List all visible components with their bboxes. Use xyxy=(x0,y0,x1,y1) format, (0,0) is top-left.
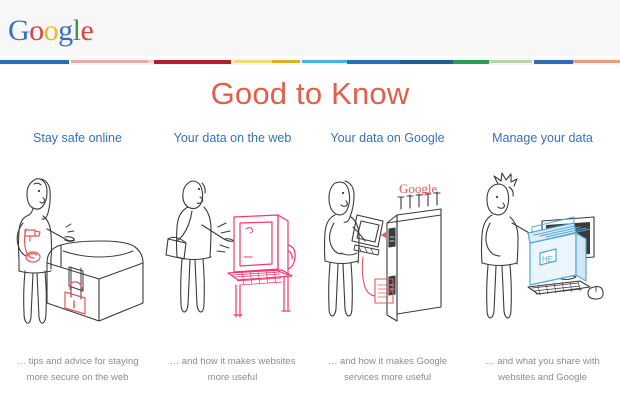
logo-letter-e: e xyxy=(81,16,94,46)
page-title: Good to Know xyxy=(0,76,620,112)
rainbow-segment-0 xyxy=(0,60,69,64)
illustration-person-with-file-drawer-and-monitor: HE xyxy=(468,167,618,332)
rainbow-divider xyxy=(0,58,620,65)
logo-letter-l: l xyxy=(73,16,81,46)
caption-line-2: more useful xyxy=(159,370,306,386)
column-your-data-on-google[interactable]: Your data on Google xyxy=(310,126,465,413)
column-heading[interactable]: Your data on the web xyxy=(174,131,292,145)
rainbow-segment-10 xyxy=(347,60,400,64)
google-logo[interactable]: Google xyxy=(8,16,93,46)
logo-letter-o2: o xyxy=(44,16,59,46)
illustration-person-pointing-at-computer xyxy=(158,167,308,332)
server-google-label: Google xyxy=(399,181,438,196)
illustration-person-with-tablet-and-google-server: Google xyxy=(313,167,463,332)
caption-line-2: more secure on the web xyxy=(4,370,151,386)
caption-line-1: … and how it makes websites xyxy=(159,354,306,370)
good-to-know-page: Google Good to Know Stay safe online xyxy=(0,0,620,413)
rainbow-segment-6 xyxy=(234,60,273,63)
column-caption: … and what you share with websites and G… xyxy=(469,354,616,386)
illustration-woman-with-key-and-treasure-chest xyxy=(3,167,153,332)
caption-line-2: services more useful xyxy=(314,370,461,386)
rainbow-segment-4 xyxy=(154,60,231,64)
column-caption: … and how it makes Google services more … xyxy=(314,354,461,386)
rainbow-segment-12 xyxy=(453,60,489,64)
column-caption: … tips and advice for staying more secur… xyxy=(4,354,151,386)
page-header: Google xyxy=(0,0,620,56)
rainbow-segment-13 xyxy=(489,60,532,63)
logo-letter-o1: o xyxy=(29,16,44,46)
logo-letter-g1: G xyxy=(8,16,29,46)
caption-line-2: websites and Google xyxy=(469,370,616,386)
column-heading[interactable]: Stay safe online xyxy=(33,131,122,145)
column-heading[interactable]: Your data on Google xyxy=(330,131,444,145)
rainbow-segment-7 xyxy=(272,60,299,63)
caption-line-1: … and what you share with xyxy=(469,354,616,370)
rainbow-segment-15 xyxy=(534,60,573,64)
rainbow-segment-9 xyxy=(302,60,347,63)
caption-line-1: … tips and advice for staying xyxy=(4,354,151,370)
rainbow-segment-16 xyxy=(573,60,620,63)
column-your-data-on-the-web[interactable]: Your data on the web xyxy=(155,126,310,413)
drawer-label: HE xyxy=(542,255,553,264)
rainbow-segment-11 xyxy=(400,60,453,64)
column-manage-your-data[interactable]: Manage your data xyxy=(465,126,620,413)
column-stay-safe-online[interactable]: Stay safe online xyxy=(0,126,155,413)
column-heading[interactable]: Manage your data xyxy=(492,131,593,145)
feature-columns: Stay safe online xyxy=(0,126,620,413)
caption-line-1: … and how it makes Google xyxy=(314,354,461,370)
logo-letter-g2: g xyxy=(58,16,73,46)
rainbow-segment-2 xyxy=(71,60,148,63)
column-caption: … and how it makes websites more useful xyxy=(159,354,306,386)
